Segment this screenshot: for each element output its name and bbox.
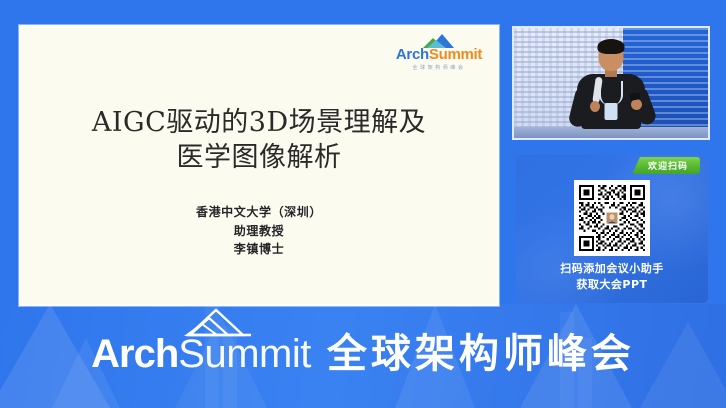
speaker-video-panel[interactable] [514, 28, 708, 138]
speaker-badge [605, 103, 618, 120]
qr-caption-line-1: 扫码添加会议小助手 [516, 261, 708, 277]
banner-arch-text: Arch [91, 334, 178, 374]
slide-affiliation: 香港中文大学（深圳） [21, 203, 497, 222]
banner-title-zh: 全球架构师峰会 [327, 334, 635, 374]
presentation-slide: ArchSummit 全球架构师峰会 AIGC驱动的3D场景理解及 医学图像解析… [21, 27, 497, 304]
qr-caption-line-2: 获取大会PPT [516, 277, 708, 293]
speaker-figure [568, 41, 654, 127]
screen-root: Arch Summit 全球架构师峰会 ArchSummit 全球架构师峰会 A… [0, 0, 726, 408]
banner-lockup: Arch Summit 全球架构师峰会 [0, 334, 726, 374]
qr-caption: 扫码添加会议小助手 获取大会PPT [516, 261, 708, 293]
slide-title-line-1: AIGC驱动的3D场景理解及 [21, 105, 497, 140]
slide-subtitle: 香港中文大学（深圳） 助理教授 李镇博士 [21, 203, 497, 259]
slide-role: 助理教授 [21, 222, 497, 241]
bottom-banner: Arch Summit 全球架构师峰会 [0, 304, 726, 408]
slide-logo-tagline: 全球架构师峰会 [391, 64, 487, 71]
slide-logo-arch-text: Arch [396, 46, 429, 63]
slide-speaker-name: 李镇博士 [21, 240, 497, 259]
banner-archsummit-wordmark: Arch Summit [91, 334, 311, 374]
slide-archsummit-logo: ArchSummit 全球架构师峰会 [391, 33, 487, 71]
slide-title-line-2: 医学图像解析 [21, 140, 497, 175]
qr-panel: 欢迎扫码 [516, 155, 708, 303]
slide-title: AIGC驱动的3D场景理解及 医学图像解析 [21, 105, 497, 175]
banner-summit-text: Summit [178, 334, 311, 374]
slide-logo-wordmark: ArchSummit [391, 47, 487, 62]
welcome-scan-badge: 欢迎扫码 [632, 157, 700, 174]
qr-code-image [577, 183, 647, 253]
qr-code[interactable] [574, 180, 650, 256]
slide-logo-summit-text: Summit [429, 46, 482, 63]
